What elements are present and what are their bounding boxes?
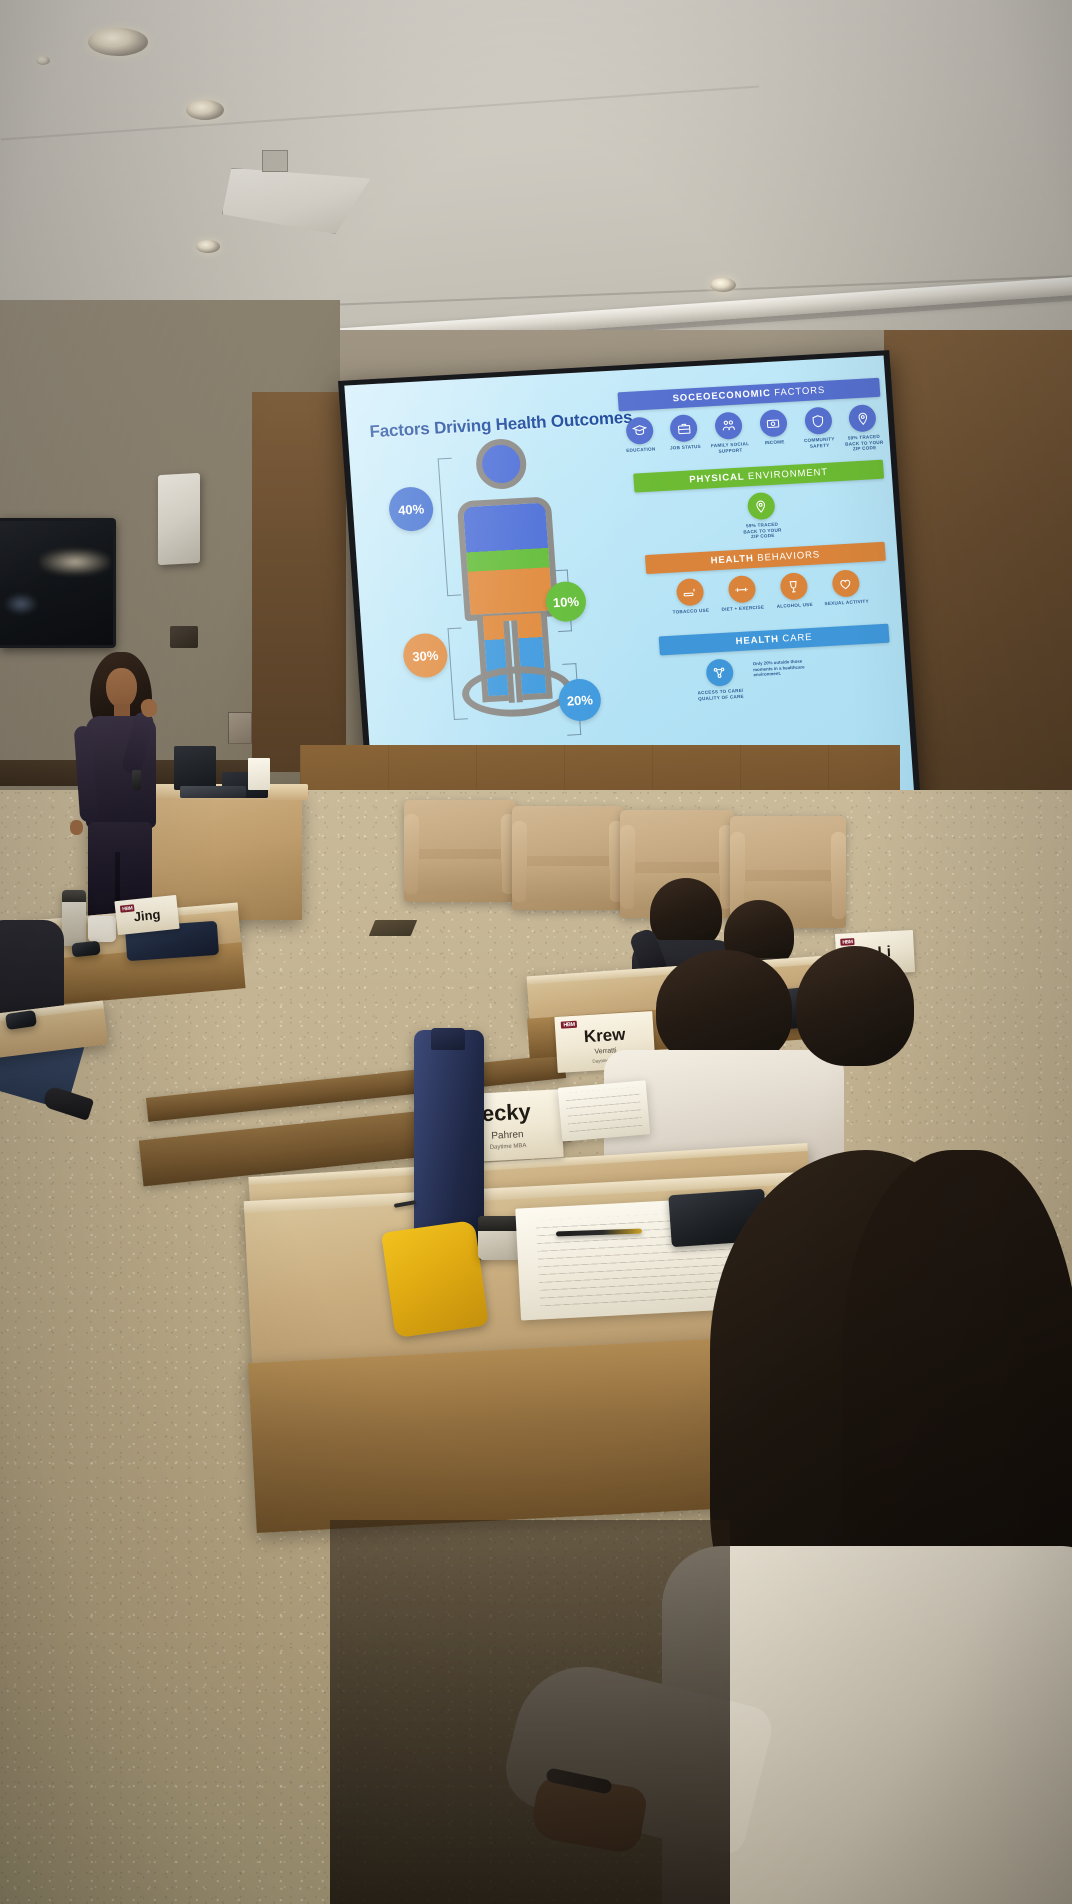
under-desk-shadow bbox=[330, 1520, 730, 1904]
nameplate-program: Daytime MBA bbox=[490, 1143, 527, 1151]
icon-label: FAMILY SOCIAL SUPPORT bbox=[711, 441, 750, 454]
medical-network-icon bbox=[705, 658, 734, 686]
graduation-cap-icon bbox=[625, 417, 654, 445]
podium-paper bbox=[248, 758, 270, 790]
section-health-behaviors: HEALTH BEHAVIORS TOBACCO USE bbox=[645, 542, 889, 617]
podium-keyboard bbox=[180, 786, 246, 798]
seated-student-far-right bbox=[796, 946, 936, 1126]
icon-item-education: EDUCATION bbox=[619, 416, 661, 465]
icon-label: DIET + EXERCISE bbox=[720, 604, 766, 612]
notebook-lines bbox=[565, 1087, 642, 1135]
shield-icon bbox=[804, 407, 833, 435]
icon-row-physical-environment: 59% TRACED BACK TO YOUR ZIP CODE bbox=[635, 486, 888, 547]
icon-row-socioeconomic: EDUCATION JOB STATUS FAMIL bbox=[619, 404, 884, 465]
nameplate-name: Jing bbox=[133, 907, 161, 925]
chair-seat bbox=[418, 859, 502, 894]
chair-back bbox=[730, 816, 846, 870]
figure-base-ellipse bbox=[460, 663, 573, 719]
wall-control-panel bbox=[228, 712, 252, 744]
icon-label: INCOME bbox=[755, 439, 794, 447]
icon-item-zip-code: 59% TRACED BACK TO YOUR ZIP CODE bbox=[842, 404, 884, 453]
lecture-hall-photo: Factors Driving Health Outcomes 40% 10% bbox=[0, 0, 1072, 1904]
money-icon bbox=[759, 409, 788, 437]
figure-head bbox=[474, 438, 527, 491]
section-bar-light: ENVIRONMENT bbox=[748, 467, 829, 482]
slide-title: Factors Driving Health Outcomes bbox=[369, 408, 633, 443]
cigarette-icon bbox=[675, 578, 704, 606]
alcohol-icon bbox=[779, 572, 808, 600]
icon-label: EDUCATION bbox=[621, 446, 660, 454]
presenter-hand bbox=[70, 820, 83, 835]
section-bar-bold: SOCEOECONOMIC bbox=[672, 388, 771, 404]
nameplate-jing: HBM Jing bbox=[114, 895, 179, 935]
chair-arm bbox=[831, 832, 846, 919]
family-support-icon bbox=[714, 412, 743, 440]
chair-arm bbox=[404, 814, 419, 894]
podium-monitor bbox=[174, 746, 216, 790]
percent-bubble-socioeconomic: 40% bbox=[388, 486, 435, 532]
nameplate-surname: Pahren bbox=[491, 1129, 524, 1142]
wall-speaker bbox=[158, 473, 200, 565]
section-bar-light: FACTORS bbox=[774, 385, 826, 399]
hbm-logo: HBM bbox=[840, 938, 855, 946]
section-socioeconomic: SOCEOECONOMIC FACTORS EDUCATION bbox=[617, 378, 884, 465]
wall-wood-column bbox=[252, 392, 346, 772]
icon-item-income: INCOME bbox=[753, 409, 795, 458]
chair-back bbox=[512, 806, 624, 856]
percent-bubble-health-behaviors: 30% bbox=[402, 632, 449, 678]
section-physical-environment: PHYSICAL ENVIRONMENT 59% TRACED BACK TO … bbox=[633, 460, 888, 547]
icon-item-diet-exercise: DIET + EXERCISE bbox=[718, 575, 766, 613]
presenter-lanyard-badge bbox=[132, 770, 141, 790]
ceiling-downlight bbox=[36, 56, 50, 65]
ceiling-downlight bbox=[710, 278, 736, 292]
health-care-note: Only 20% outside those moments in a heal… bbox=[753, 658, 814, 678]
nameplate-name: ecky bbox=[481, 1099, 531, 1128]
lounge-chair bbox=[404, 800, 516, 902]
coffee-cup bbox=[88, 916, 116, 942]
icon-label: TOBACCO USE bbox=[668, 607, 714, 615]
presenter-face bbox=[106, 668, 137, 708]
location-pin-icon bbox=[848, 404, 877, 432]
floor-vent bbox=[369, 920, 417, 936]
icon-row-health-behaviors: TOBACCO USE DIET + EXERCISE bbox=[647, 568, 889, 617]
notebook-upper bbox=[558, 1080, 650, 1141]
briefcase-icon bbox=[670, 414, 699, 442]
diet-exercise-icon bbox=[727, 575, 756, 603]
bottle-cap bbox=[431, 1028, 465, 1050]
icon-item-community-safety: COMMUNITY SAFETY bbox=[798, 406, 840, 455]
icon-label: 59% TRACED BACK TO YOUR ZIP CODE bbox=[844, 434, 884, 453]
sexual-activity-icon bbox=[831, 569, 860, 597]
section-bar-bold: PHYSICAL bbox=[689, 471, 745, 485]
icon-item-sexual-activity: SEXUAL ACTIVITY bbox=[821, 569, 869, 607]
ceiling-downlight bbox=[196, 240, 220, 253]
ceiling-downlight bbox=[88, 28, 148, 56]
chair-arm bbox=[512, 821, 527, 902]
location-pin-icon bbox=[746, 492, 775, 520]
projector-mount bbox=[262, 150, 288, 172]
icon-label: ALCOHOL USE bbox=[772, 602, 818, 610]
icon-label: ACCESS TO CARE/ QUALITY OF CARE bbox=[694, 688, 747, 702]
icon-item-family-support: FAMILY SOCIAL SUPPORT bbox=[708, 411, 750, 460]
icon-item-alcohol-use: ALCOHOL USE bbox=[770, 572, 818, 610]
hbm-logo: HBM bbox=[561, 1021, 578, 1029]
section-bar-bold: HEALTH bbox=[710, 553, 754, 566]
lounge-chair bbox=[512, 806, 624, 910]
phone-on-desk bbox=[71, 941, 100, 958]
icon-item-zip-code-physical: 59% TRACED BACK TO YOUR ZIP CODE bbox=[737, 491, 786, 540]
icon-item-job-status: JOB STATUS bbox=[664, 414, 706, 463]
wall-monitor bbox=[0, 518, 116, 648]
icon-row-health-care: ACCESS TO CARE/ QUALITY OF CARE Only 20%… bbox=[660, 650, 893, 704]
icon-item-tobacco-use: TOBACCO USE bbox=[666, 577, 714, 615]
student-head bbox=[796, 946, 914, 1066]
section-health-care: HEALTH CARE ACCESS TO CARE/ QUALITY OF C… bbox=[659, 624, 893, 704]
icon-label: SEXUAL ACTIVITY bbox=[824, 599, 870, 607]
icon-label: COMMUNITY SAFETY bbox=[800, 436, 839, 449]
icon-item-access-to-care: ACCESS TO CARE/ QUALITY OF CARE bbox=[692, 658, 747, 702]
snack-bag bbox=[381, 1220, 489, 1338]
wall-speaker-small bbox=[170, 626, 198, 648]
monitor-glare bbox=[4, 593, 38, 615]
section-bar-light: BEHAVIORS bbox=[757, 549, 821, 563]
ceiling-downlight bbox=[186, 100, 224, 120]
section-bar-light: CARE bbox=[782, 632, 813, 645]
foreground-student bbox=[692, 1150, 1072, 1904]
chair-back bbox=[404, 800, 516, 849]
section-bar-bold: HEALTH bbox=[735, 634, 779, 647]
figure-torso bbox=[457, 496, 559, 621]
chair-seat bbox=[526, 866, 610, 901]
presenter bbox=[62, 652, 172, 927]
chair-back bbox=[620, 810, 734, 862]
icon-label: JOB STATUS bbox=[666, 444, 705, 452]
icon-label: 59% TRACED BACK TO YOUR ZIP CODE bbox=[739, 521, 786, 540]
monitor-glare bbox=[40, 549, 110, 575]
